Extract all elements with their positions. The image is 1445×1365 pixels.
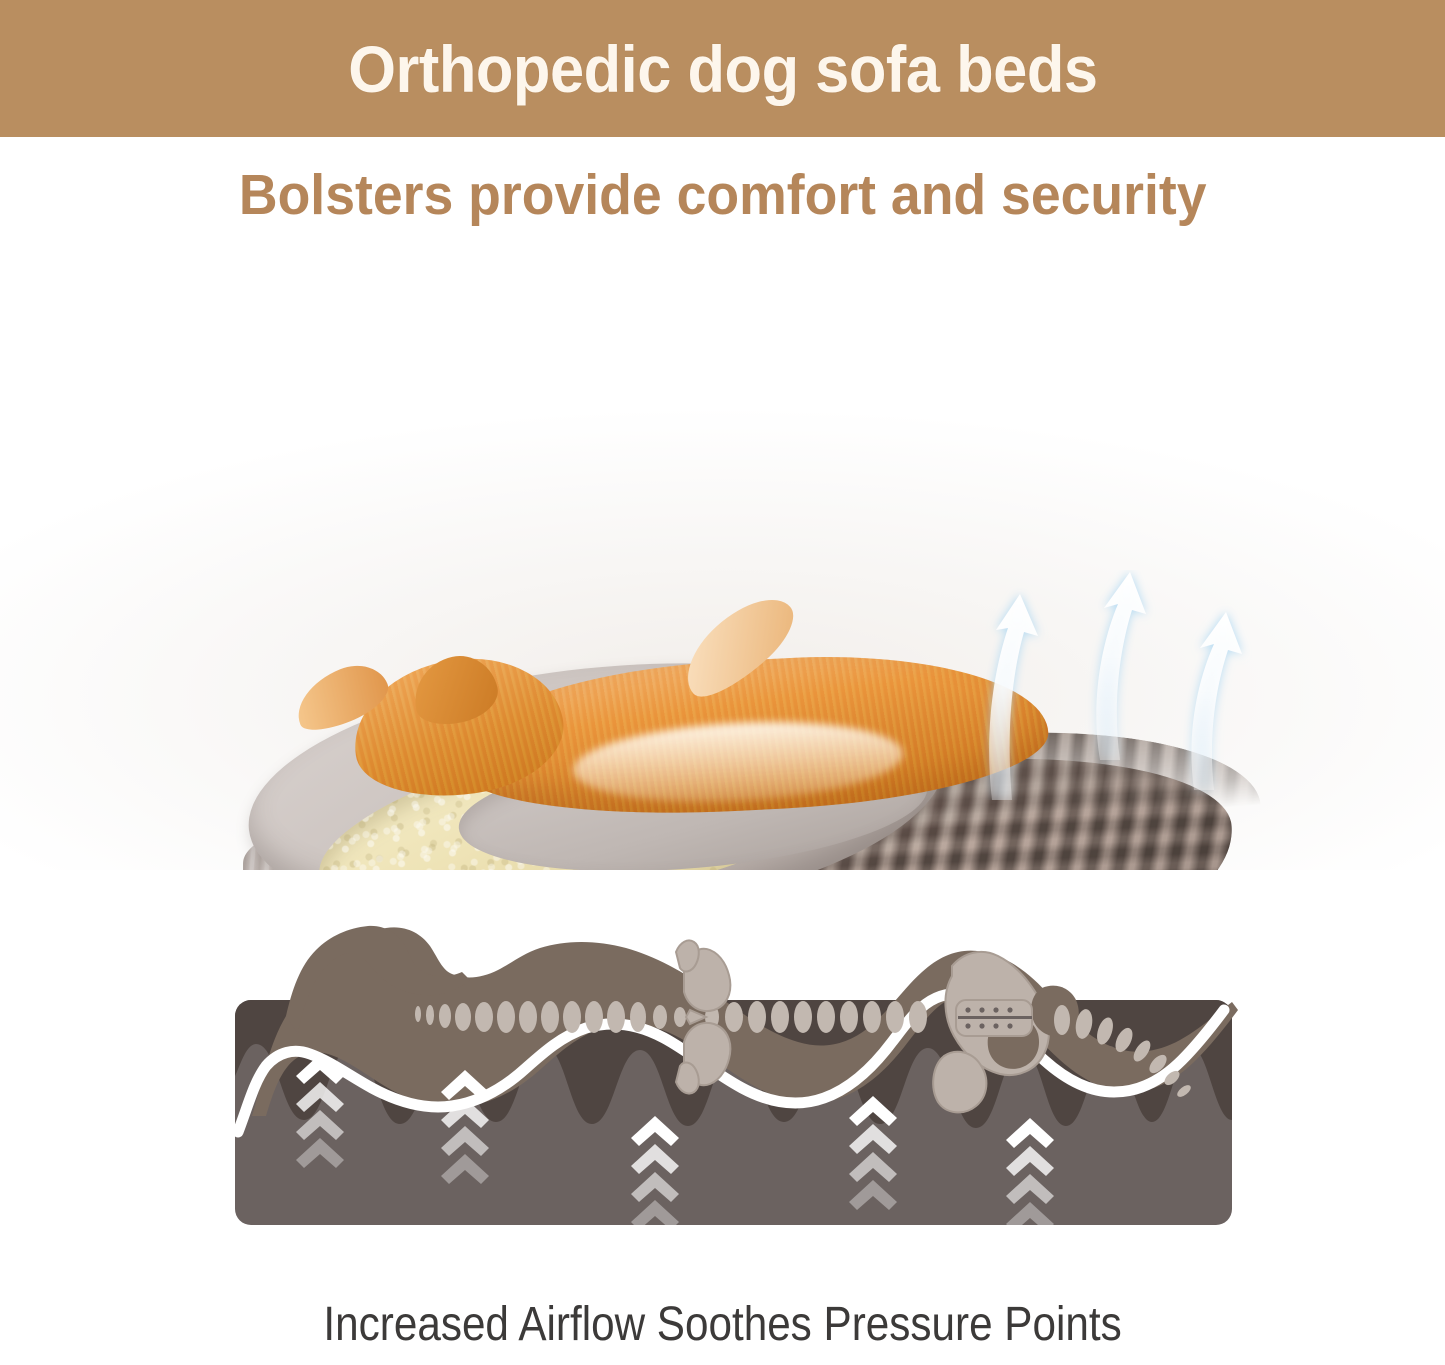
product-infographic-page: Orthopedic dog sofa beds Bolsters provid… [0,0,1445,1365]
caption-text: Increased Airflow Soothes Pressure Point… [323,1301,1121,1349]
cross-section-diagram [0,870,1445,1250]
caption-row: Increased Airflow Soothes Pressure Point… [0,1290,1445,1360]
subtitle-text: Bolsters provide comfort and security [239,167,1207,224]
subtitle-row: Bolsters provide comfort and security [0,155,1445,235]
product-photo [0,250,1445,870]
airflow-arrow-2 [1096,572,1146,760]
page-title: Orthopedic dog sofa beds [348,36,1097,102]
airflow-arrows-group [950,570,1280,800]
header-banner: Orthopedic dog sofa beds [0,0,1445,137]
airflow-arrow-3 [1191,612,1242,790]
airflow-arrow-1 [989,594,1038,800]
